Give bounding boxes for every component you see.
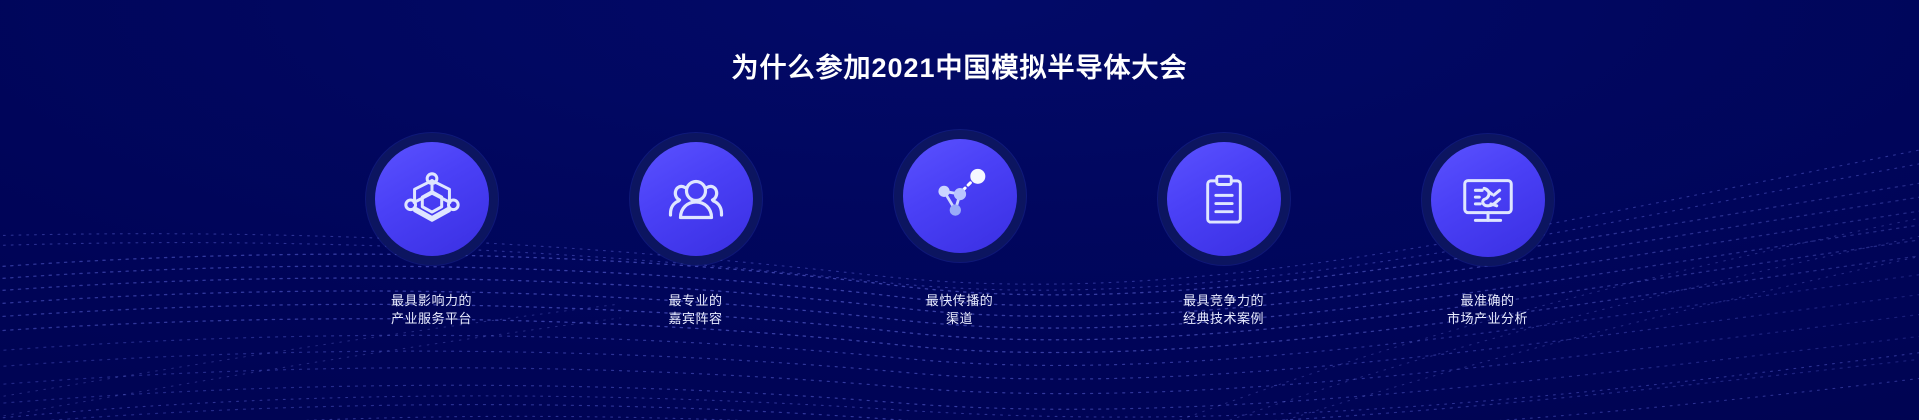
feature-item-market-analysis[interactable]: 最准确的 市场产业分析 (1388, 130, 1588, 328)
section-title-container: 为什么参加2021中国模拟半导体大会 (0, 34, 1919, 103)
page-title: 为什么参加2021中国模拟半导体大会 (731, 52, 1187, 84)
feature-list: 最具影响力的 产业服务平台 (0, 130, 1919, 328)
icon-disc (375, 142, 489, 256)
icon-disc (1167, 142, 1281, 256)
network-cube-icon (401, 168, 463, 230)
icon-disc (903, 139, 1017, 253)
icon-ring (894, 130, 1026, 262)
icon-ring (366, 133, 498, 265)
icon-ring (1158, 133, 1290, 265)
feature-label: 最快传播的 渠道 (926, 292, 994, 328)
feature-label: 最具竞争力的 经典技术案例 (1183, 292, 1264, 328)
share-nodes-icon (930, 166, 990, 226)
feature-label: 最专业的 嘉宾阵容 (668, 292, 722, 328)
feature-item-fastest-channel[interactable]: 最快传播的 渠道 (860, 130, 1060, 328)
icon-disc (1431, 143, 1545, 257)
monitor-analytics-icon (1457, 169, 1519, 231)
hero-section: 为什么参加2021中国模拟半导体大会 (0, 0, 1919, 420)
people-group-icon (664, 167, 728, 231)
icon-ring (1422, 134, 1554, 266)
feature-label: 最具影响力的 产业服务平台 (391, 292, 472, 328)
feature-label: 最准确的 市场产业分析 (1447, 292, 1528, 328)
icon-disc (639, 142, 753, 256)
feature-item-technical-cases[interactable]: 最具竞争力的 经典技术案例 (1124, 130, 1324, 328)
clipboard-list-icon (1195, 170, 1253, 228)
icon-ring (630, 133, 762, 265)
feature-item-guest-lineup[interactable]: 最专业的 嘉宾阵容 (596, 130, 796, 328)
feature-item-industry-platform[interactable]: 最具影响力的 产业服务平台 (332, 130, 532, 328)
